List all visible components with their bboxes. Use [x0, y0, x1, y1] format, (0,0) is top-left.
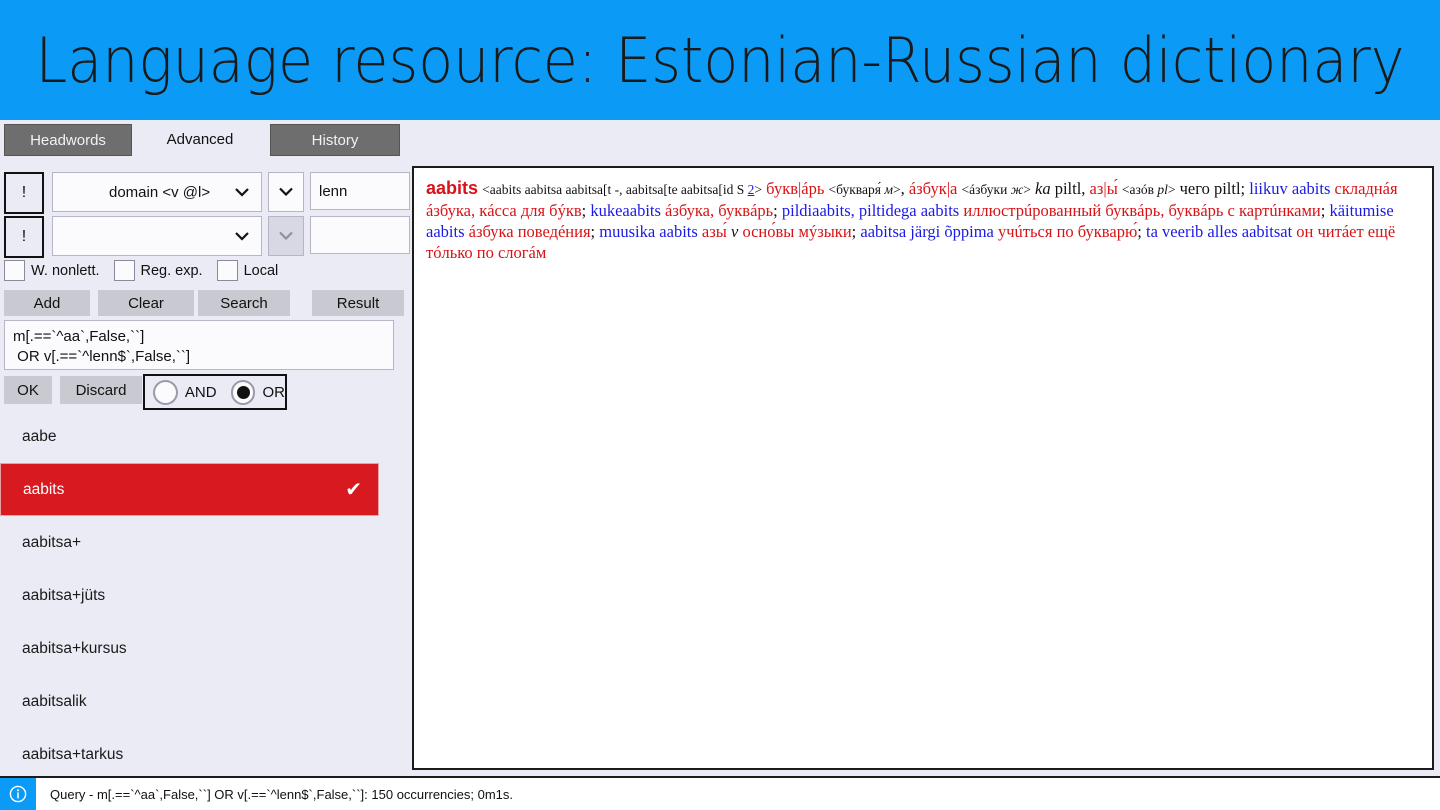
ok-button[interactable]: OK — [4, 376, 52, 404]
field-select-row1[interactable]: domain <v @l> — [52, 172, 262, 212]
field-select-row1-secondary[interactable] — [268, 172, 304, 212]
label-and: AND — [185, 384, 217, 401]
list-item[interactable]: aabitsa+jüts — [0, 569, 404, 622]
negate-button-row2[interactable]: ! — [4, 216, 44, 258]
list-item[interactable]: aabitsa+kursus — [0, 622, 404, 675]
list-item-label: aabitsa+ — [22, 534, 81, 552]
operator-radio-group: AND OR — [143, 374, 287, 410]
tab-headwords[interactable]: Headwords — [4, 124, 132, 156]
list-item[interactable]: aabe — [0, 410, 404, 463]
list-item-label: aabitsa+jüts — [22, 587, 105, 605]
dictionary-entry: aabits <aabits aabitsa aabitsa[t -, aabi… — [426, 178, 1420, 263]
page-title: Language resource: Estonian-Russian dict… — [35, 24, 1404, 97]
query-row-2: ! — [4, 216, 410, 258]
list-item-label: aabitsa+kursus — [22, 640, 127, 658]
list-item-label: aabitsalik — [22, 693, 87, 711]
list-item-label: aabitsa+tarkus — [22, 746, 123, 764]
result-button[interactable]: Result — [312, 290, 404, 316]
status-message: Query - m[.==`^aa`,False,``] OR v[.==`^l… — [36, 787, 513, 802]
app-window: Language resource: Estonian-Russian dict… — [0, 0, 1440, 810]
info-icon — [0, 778, 36, 810]
action-button-row: Add Clear Search Result — [4, 290, 404, 316]
query-row-1: ! domain <v @l> — [4, 172, 410, 214]
list-item[interactable]: aabitsa+ — [0, 516, 404, 569]
query-confirm-row: OK Discard AND OR — [4, 376, 404, 406]
label-local: Local — [244, 263, 279, 279]
list-item[interactable]: aabitsalik — [0, 675, 404, 728]
field-select-row2-secondary[interactable] — [268, 216, 304, 256]
label-or: OR — [262, 384, 285, 401]
headword-list: aabe aabits ✔ aabitsa+ aabitsa+jüts aabi… — [0, 410, 404, 772]
dictionary-entry-panel[interactable]: aabits <aabits aabitsa aabitsa[t -, aabi… — [412, 166, 1434, 770]
chevron-down-icon — [235, 188, 249, 197]
radio-or[interactable] — [231, 380, 256, 405]
clear-button[interactable]: Clear — [98, 290, 194, 316]
list-item[interactable]: aabitsa+tarkus — [0, 728, 404, 781]
chevron-down-icon — [279, 227, 293, 245]
list-item-label: aabe — [22, 428, 56, 446]
app-header-banner: Language resource: Estonian-Russian dict… — [0, 0, 1440, 120]
discard-button[interactable]: Discard — [60, 376, 142, 404]
search-button[interactable]: Search — [198, 290, 290, 316]
checkbox-local[interactable] — [217, 260, 238, 281]
tab-history[interactable]: History — [270, 124, 400, 156]
field-select-row2[interactable] — [52, 216, 262, 256]
list-item-selected[interactable]: aabits ✔ — [0, 463, 379, 516]
tab-advanced[interactable]: Advanced — [136, 124, 264, 154]
entry-headword: aabits — [426, 178, 478, 198]
add-button[interactable]: Add — [4, 290, 90, 316]
query-expression-textarea[interactable]: m[.==`^aa`,False,``] OR v[.==`^lenn$`,Fa… — [4, 320, 394, 370]
radio-and[interactable] — [153, 380, 178, 405]
entry-body: <aabits aabitsa aabitsa[t -, aabitsa[te … — [426, 179, 1398, 262]
field-select-row1-value: domain <v @l> — [53, 184, 210, 201]
label-w-nonlett: W. nonlett. — [31, 263, 100, 279]
label-reg-exp: Reg. exp. — [141, 263, 203, 279]
checkbox-w-nonlett[interactable] — [4, 260, 25, 281]
chevron-down-icon — [279, 183, 293, 201]
chevron-down-icon — [235, 232, 249, 241]
status-bar: Query - m[.==`^aa`,False,``] OR v[.==`^l… — [0, 776, 1440, 810]
negate-button-row1[interactable]: ! — [4, 172, 44, 214]
checkbox-reg-exp[interactable] — [114, 260, 135, 281]
value-input-row2[interactable] — [310, 216, 410, 254]
value-input-row1[interactable] — [310, 172, 410, 210]
tab-bar: Headwords Advanced History — [0, 124, 1440, 160]
search-options-row: W. nonlett. Reg. exp. Local — [4, 260, 292, 281]
check-icon: ✔ — [345, 480, 362, 500]
list-item-label: aabits — [23, 481, 64, 499]
